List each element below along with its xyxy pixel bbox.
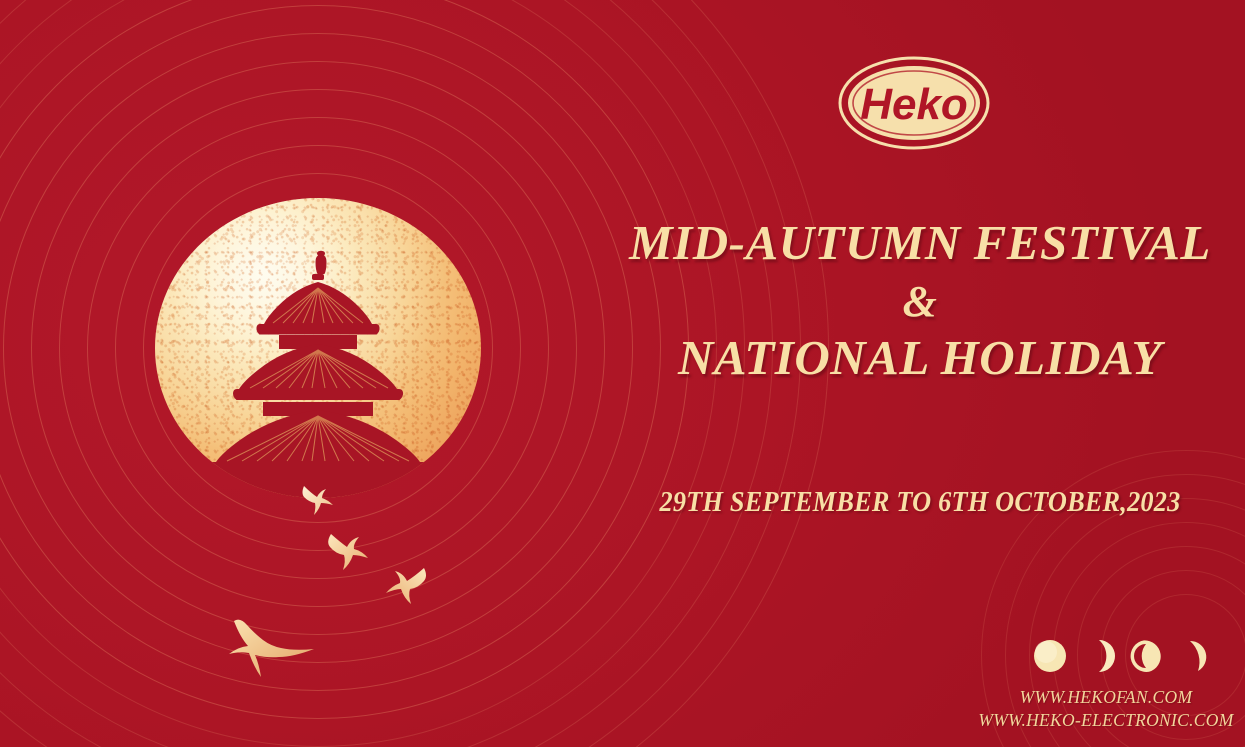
waning-gibbous-moon-icon bbox=[1082, 639, 1116, 673]
waning-crescent-moon-icon bbox=[1179, 639, 1213, 673]
dove-icon bbox=[218, 613, 316, 691]
headline-line-1: MID-AUTUMN FESTIVAL bbox=[600, 218, 1240, 268]
website-secondary[interactable]: WWW.HEKO-ELECTRONIC.COM bbox=[975, 709, 1237, 732]
company-websites: WWW.HEKOFAN.COM WWW.HEKO-ELECTRONIC.COM bbox=[975, 686, 1237, 732]
website-primary[interactable]: WWW.HEKOFAN.COM bbox=[975, 686, 1237, 709]
holiday-notice-poster: Heko MID-AUTUMN FESTIVAL & NATIONAL HOLI… bbox=[0, 0, 1245, 747]
holiday-dates: 29TH SEPTEMBER TO 6TH OCTOBER,2023 bbox=[619, 487, 1221, 519]
heko-logo-text: Heko bbox=[860, 80, 968, 129]
dove-icon bbox=[321, 528, 375, 574]
last-quarter-moon-icon bbox=[1130, 639, 1164, 673]
full-moon-icon bbox=[1033, 639, 1067, 673]
dove-icon bbox=[296, 482, 342, 518]
temple-of-heaven-icon bbox=[155, 198, 481, 498]
headline-ampersand: & bbox=[600, 280, 1240, 325]
moon-phase-row bbox=[1033, 634, 1213, 678]
page-title: MID-AUTUMN FESTIVAL & NATIONAL HOLIDAY bbox=[600, 218, 1240, 383]
heko-logo[interactable]: Heko bbox=[838, 55, 990, 151]
full-moon-disc bbox=[155, 198, 481, 498]
moon-illustration bbox=[155, 198, 481, 498]
dove-icon bbox=[378, 561, 434, 609]
headline-line-2: NATIONAL HOLIDAY bbox=[600, 333, 1240, 383]
